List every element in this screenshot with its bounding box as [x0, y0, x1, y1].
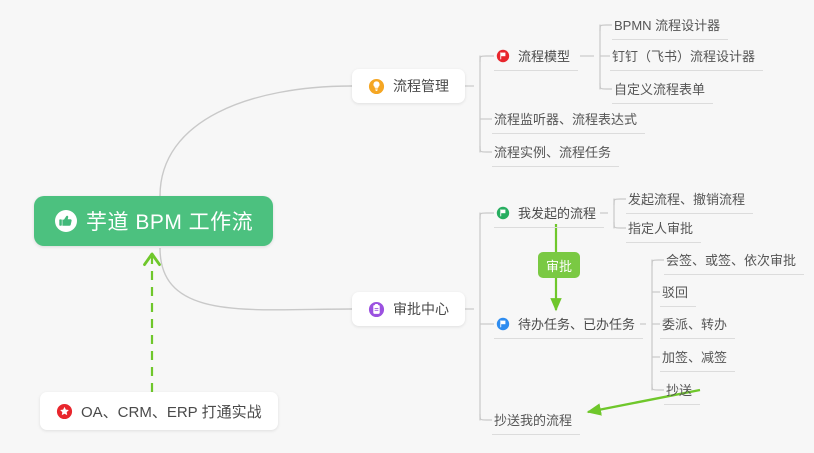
- node-countersign[interactable]: 会签、或签、依次审批: [664, 245, 804, 275]
- node-assignee-approval[interactable]: 指定人审批: [626, 213, 701, 243]
- node-carbon-copy[interactable]: 抄送: [664, 375, 700, 405]
- tag-label: 审批: [546, 256, 572, 275]
- wire-ac-to-my-initiated: [480, 213, 494, 219]
- node-label: 驳回: [662, 282, 688, 301]
- root-node[interactable]: 芋道 BPM 工作流: [34, 196, 273, 246]
- lightbulb-icon: [368, 78, 385, 95]
- thumbs-up-icon: [54, 209, 78, 233]
- node-label: 流程监听器、流程表达式: [494, 109, 637, 128]
- node-todo-done-tasks[interactable]: 待办任务、已办任务: [494, 309, 643, 339]
- node-cc-to-me[interactable]: 抄送我的流程: [492, 405, 580, 435]
- node-bpmn-designer[interactable]: BPMN 流程设计器: [612, 10, 728, 40]
- tag-approval: 审批: [538, 252, 580, 278]
- branch-label: 流程管理: [393, 76, 449, 96]
- node-label: 发起流程、撤销流程: [628, 189, 745, 208]
- footnote-label: OA、CRM、ERP 打通实战: [81, 401, 262, 422]
- node-delegate-transfer[interactable]: 委派、转办: [660, 309, 735, 339]
- node-my-initiated[interactable]: 我发起的流程: [494, 198, 604, 228]
- wire-todo-to-countersign: [652, 260, 664, 266]
- node-label: 流程模型: [518, 46, 570, 65]
- wire-model-to-bpmn: [600, 25, 612, 31]
- branch-node-approval-center[interactable]: 审批中心: [352, 292, 465, 326]
- wire-pm-to-process-model: [480, 56, 494, 62]
- branch-node-process-management[interactable]: 流程管理: [352, 69, 465, 103]
- node-custom-process-form[interactable]: 自定义流程表单: [612, 74, 713, 104]
- wire-pm-to-instance: [480, 146, 492, 152]
- flag-icon: [496, 206, 510, 220]
- wire-mine-to-start: [614, 199, 626, 205]
- node-reject[interactable]: 驳回: [660, 277, 696, 307]
- node-dingtalk-feishu-designer[interactable]: 钉钉（飞书）流程设计器: [610, 41, 763, 71]
- node-label: 加签、减签: [662, 347, 727, 366]
- node-label: 抄送我的流程: [494, 410, 572, 429]
- node-label: 钉钉（飞书）流程设计器: [612, 46, 755, 65]
- node-instance-task[interactable]: 流程实例、流程任务: [492, 137, 619, 167]
- wire-root-to-approval-center: [160, 248, 352, 310]
- node-label: 委派、转办: [662, 314, 727, 333]
- node-label: 抄送: [666, 380, 692, 399]
- node-label: 指定人审批: [628, 218, 693, 237]
- node-label: 自定义流程表单: [614, 79, 705, 98]
- wire-mine-to-assignee: [614, 222, 626, 228]
- root-label: 芋道 BPM 工作流: [86, 206, 253, 236]
- node-add-remove-sign[interactable]: 加签、减签: [660, 342, 735, 372]
- node-label: BPMN 流程设计器: [614, 15, 720, 34]
- footnote-node-integration[interactable]: OA、CRM、ERP 打通实战: [40, 392, 278, 430]
- node-start-cancel-process[interactable]: 发起流程、撤销流程: [626, 184, 753, 214]
- wire-model-to-customform: [600, 83, 612, 89]
- node-label: 会签、或签、依次审批: [666, 250, 796, 269]
- wire-ac-to-ccme: [480, 414, 492, 420]
- node-listener-expression[interactable]: 流程监听器、流程表达式: [492, 104, 645, 134]
- mindmap-canvas: 芋道 BPM 工作流 流程管理 流程模型 BPMN 流程设计器 钉钉（飞书: [0, 0, 814, 453]
- wire-root-to-process-management: [160, 86, 352, 196]
- node-label: 流程实例、流程任务: [494, 142, 611, 161]
- star-icon: [56, 403, 73, 420]
- branch-label: 审批中心: [393, 299, 449, 319]
- clipboard-icon: [368, 301, 385, 318]
- flag-icon: [496, 317, 510, 331]
- node-label: 待办任务、已办任务: [518, 314, 635, 333]
- node-process-model[interactable]: 流程模型: [494, 41, 578, 71]
- wire-todo-to-cc: [652, 384, 664, 390]
- node-label: 我发起的流程: [518, 203, 596, 222]
- flag-icon: [496, 49, 510, 63]
